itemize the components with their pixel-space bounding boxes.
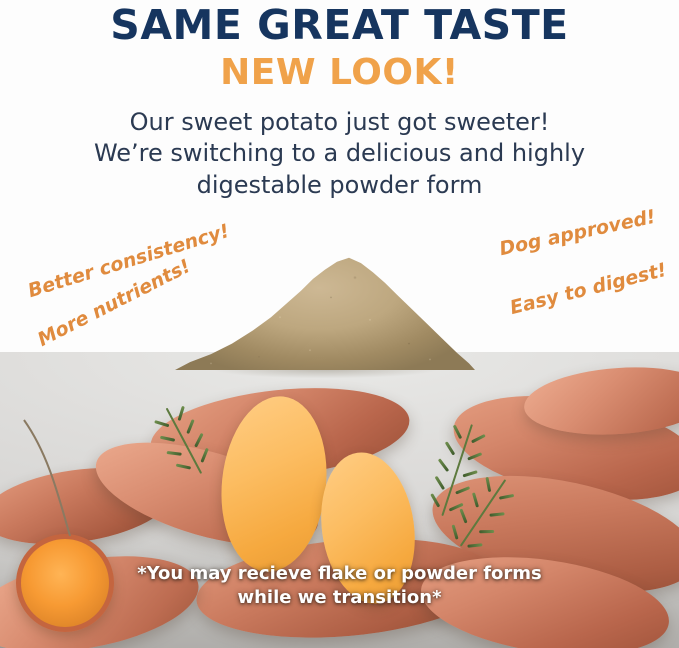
headline-primary: SAME GREAT TASTE: [0, 4, 679, 47]
subheadline-line-1: Our sweet potato just got sweeter!: [0, 107, 679, 139]
disclaimer-line-1: *You may recieve flake or powder forms: [0, 562, 679, 586]
disclaimer-block: *You may recieve flake or powder forms w…: [0, 562, 679, 611]
subheadline: Our sweet potato just got sweeter! We’re…: [0, 107, 679, 202]
subheadline-line-3: digestable powder form: [0, 170, 679, 202]
potato-vine-stem: [18, 414, 148, 554]
promo-image: SAME GREAT TASTE NEW LOOK! Our sweet pot…: [0, 0, 679, 648]
headline-block: SAME GREAT TASTE NEW LOOK! Our sweet pot…: [0, 0, 679, 202]
subheadline-line-2: We’re switching to a delicious and highl…: [0, 138, 679, 170]
powder-mound: [175, 238, 475, 370]
disclaimer-line-2: while we transition*: [0, 586, 679, 610]
powder-mound-texture: [175, 238, 475, 370]
headline-secondary: NEW LOOK!: [0, 53, 679, 93]
